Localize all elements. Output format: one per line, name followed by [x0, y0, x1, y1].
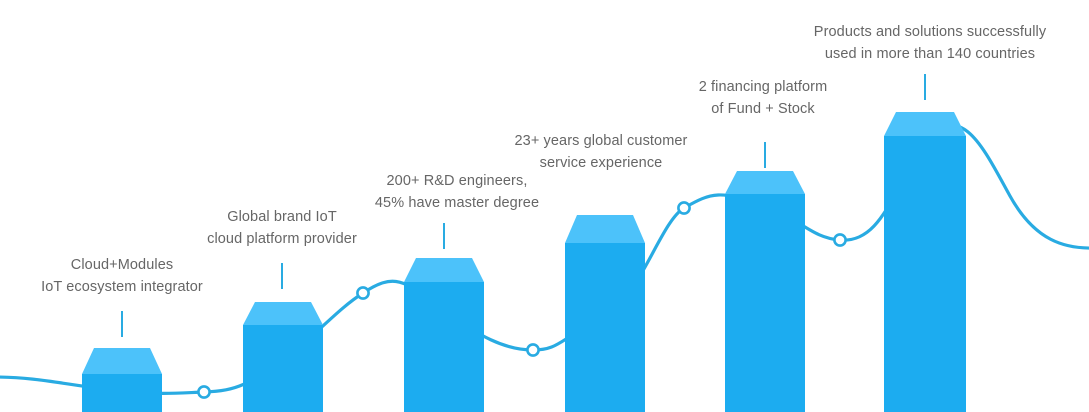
bar-1: [82, 348, 162, 412]
bar-label-4: 23+ years global customer service experi…: [57, 130, 1089, 174]
bar-1-top-face: [82, 348, 162, 374]
bar-2: [243, 302, 323, 412]
bar-label-5: 2 financing platform of Fund + Stock: [219, 76, 1089, 120]
marker-5: [834, 234, 845, 245]
bar-label-6: Products and solutions successfully used…: [386, 21, 1089, 65]
infographic-canvas: Cloud+Modules IoT ecosystem integrator G…: [0, 0, 1089, 412]
bar-label-3-line2: 45% have master degree: [0, 192, 1002, 214]
bar-label-1-line2: IoT ecosystem integrator: [0, 276, 667, 298]
bar-3-front-face: [404, 282, 484, 412]
bar-label-6-line1: Products and solutions successfully: [386, 21, 1089, 43]
bar-label-1: Cloud+Modules IoT ecosystem integrator: [0, 254, 667, 298]
bar-label-1-line1: Cloud+Modules: [0, 254, 667, 276]
bar-label-5-line2: of Fund + Stock: [219, 98, 1089, 120]
bar-label-3: 200+ R&D engineers, 45% have master degr…: [0, 170, 1002, 214]
bar-label-2-line2: cloud platform provider: [0, 228, 827, 250]
bar-label-6-line2: used in more than 140 countries: [386, 43, 1089, 65]
bar-label-4-line1: 23+ years global customer: [57, 130, 1089, 152]
bar-2-top-face: [243, 302, 323, 325]
bar-2-front-face: [243, 325, 323, 412]
bar-label-4-line2: service experience: [57, 152, 1089, 174]
marker-1: [198, 386, 209, 397]
bar-label-5-line1: 2 financing platform: [219, 76, 1089, 98]
marker-3: [527, 344, 538, 355]
bar-1-front-face: [82, 374, 162, 412]
